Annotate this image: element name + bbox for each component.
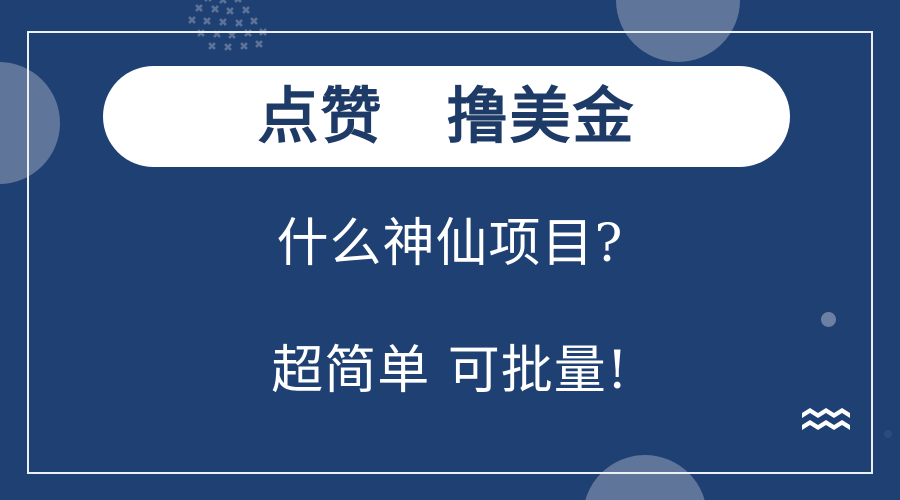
poster-canvas: 点赞 撸美金 什么神仙项目? 超简单 可批量! — [0, 0, 900, 500]
poster-content: 点赞 撸美金 什么神仙项目? 超简单 可批量! — [0, 0, 900, 500]
title-pill: 点赞 撸美金 — [103, 66, 790, 167]
title-pill-text: 点赞 撸美金 — [257, 86, 635, 147]
headline-benefit: 超简单 可批量! — [0, 345, 900, 397]
headline-question: 什么神仙项目? — [0, 218, 900, 270]
